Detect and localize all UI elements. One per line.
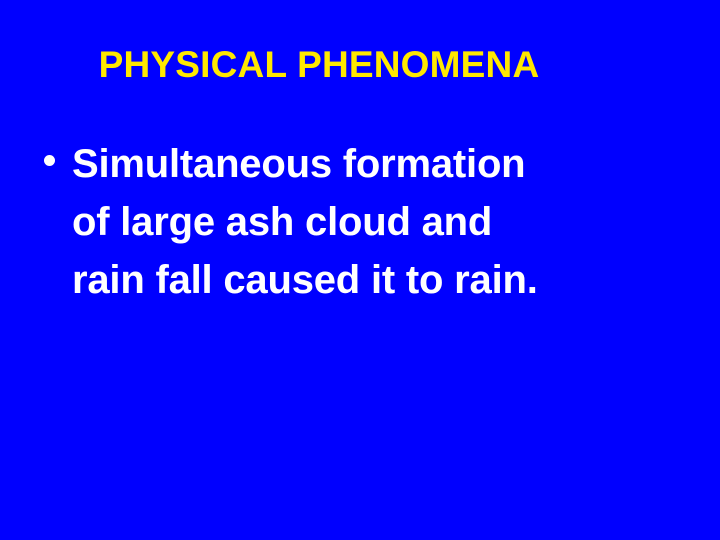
slide-body: Simultaneous formation of large ash clou… xyxy=(42,135,682,309)
bullet-text: Simultaneous formation of large ash clou… xyxy=(72,135,682,309)
slide-title: PHYSICAL PHENOMENA xyxy=(0,46,720,85)
presentation-slide: PHYSICAL PHENOMENA Simultaneous formatio… xyxy=(0,0,720,540)
bullet-text-line: of large ash cloud and xyxy=(72,193,682,251)
bullet-text-line: rain fall caused it to rain. xyxy=(72,251,682,309)
bullet-item: Simultaneous formation of large ash clou… xyxy=(42,135,682,309)
bullet-text-line: Simultaneous formation xyxy=(72,135,682,193)
bullet-dot-icon xyxy=(44,155,55,166)
